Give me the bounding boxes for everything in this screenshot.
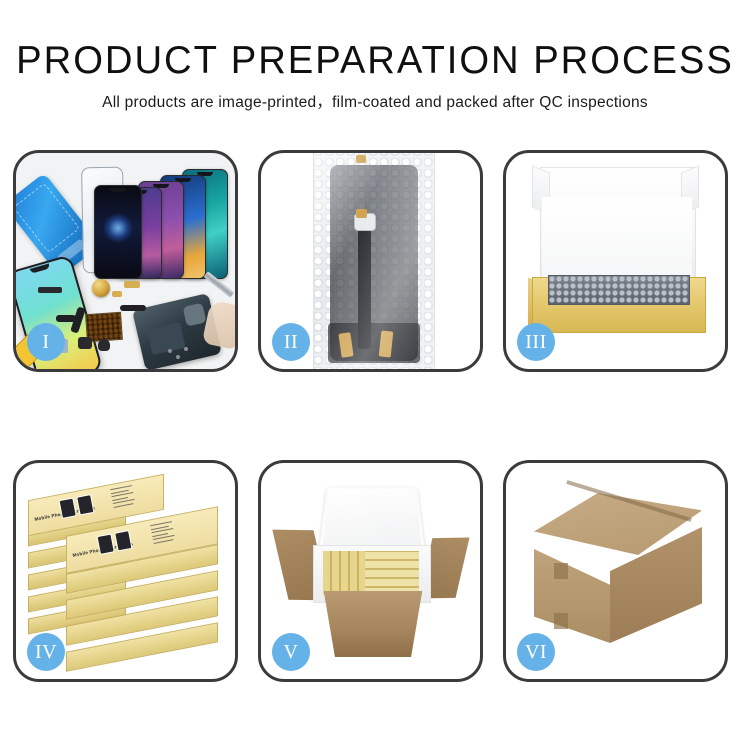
carton-body <box>317 591 429 657</box>
retail-boxes-column-b <box>365 551 419 595</box>
step-card-6[interactable]: VI <box>503 460 728 682</box>
retail-boxes-column-a <box>323 551 365 595</box>
step-badge-1: I <box>27 323 65 361</box>
header: PRODUCT PREPARATION PROCESS All products… <box>0 0 750 112</box>
chip-part-2 <box>78 337 92 349</box>
foam-lid <box>319 487 426 553</box>
screw-1 <box>168 349 172 353</box>
taptic-part <box>98 339 110 351</box>
bubble-wrap-contents <box>548 275 690 305</box>
gold-connector-1 <box>124 281 140 288</box>
carton-left-face <box>534 549 610 643</box>
step-card-5[interactable]: V <box>258 460 483 682</box>
step-card-1[interactable]: I <box>13 150 238 372</box>
flex-cable-3 <box>56 315 76 322</box>
step-card-4[interactable]: Mobile Phone Spare Parts Mobile Phone Sp… <box>13 460 238 682</box>
display-flex-cable <box>358 221 371 349</box>
foam-sheet <box>542 197 692 277</box>
chip-part-1 <box>38 287 62 293</box>
process-steps-grid: I II <box>13 150 729 682</box>
screw-3 <box>184 347 188 351</box>
gold-connector-2 <box>112 291 122 297</box>
step-badge-5: V <box>272 633 310 671</box>
step-badge-6: VI <box>517 633 555 671</box>
tape-piece-1 <box>356 155 366 163</box>
flex-cable-2 <box>120 305 146 311</box>
speaker-disc-part <box>92 279 110 297</box>
box-spec-lines-2 <box>150 521 176 546</box>
carton-tape-1 <box>554 563 568 579</box>
step-badge-3: III <box>517 323 555 361</box>
bubble-wrap-sleeve <box>313 153 435 369</box>
page-subtitle: All products are image-printed，film-coat… <box>0 82 750 112</box>
step-badge-2: II <box>272 323 310 361</box>
phone-screen-1 <box>94 185 142 279</box>
packed-retail-boxes <box>323 551 419 595</box>
box-spec-lines-1 <box>110 485 136 510</box>
step-card-2[interactable]: II <box>258 150 483 372</box>
product-preparation-infographic: PRODUCT PREPARATION PROCESS All products… <box>0 0 750 750</box>
step-badge-4: IV <box>27 633 65 671</box>
page-title: PRODUCT PREPARATION PROCESS <box>8 0 743 82</box>
step-card-3[interactable]: III <box>503 150 728 372</box>
tape-piece-2 <box>356 209 367 218</box>
carton-tape-2 <box>554 613 568 629</box>
phone-screens-fan <box>94 161 234 279</box>
screw-2 <box>176 355 180 359</box>
